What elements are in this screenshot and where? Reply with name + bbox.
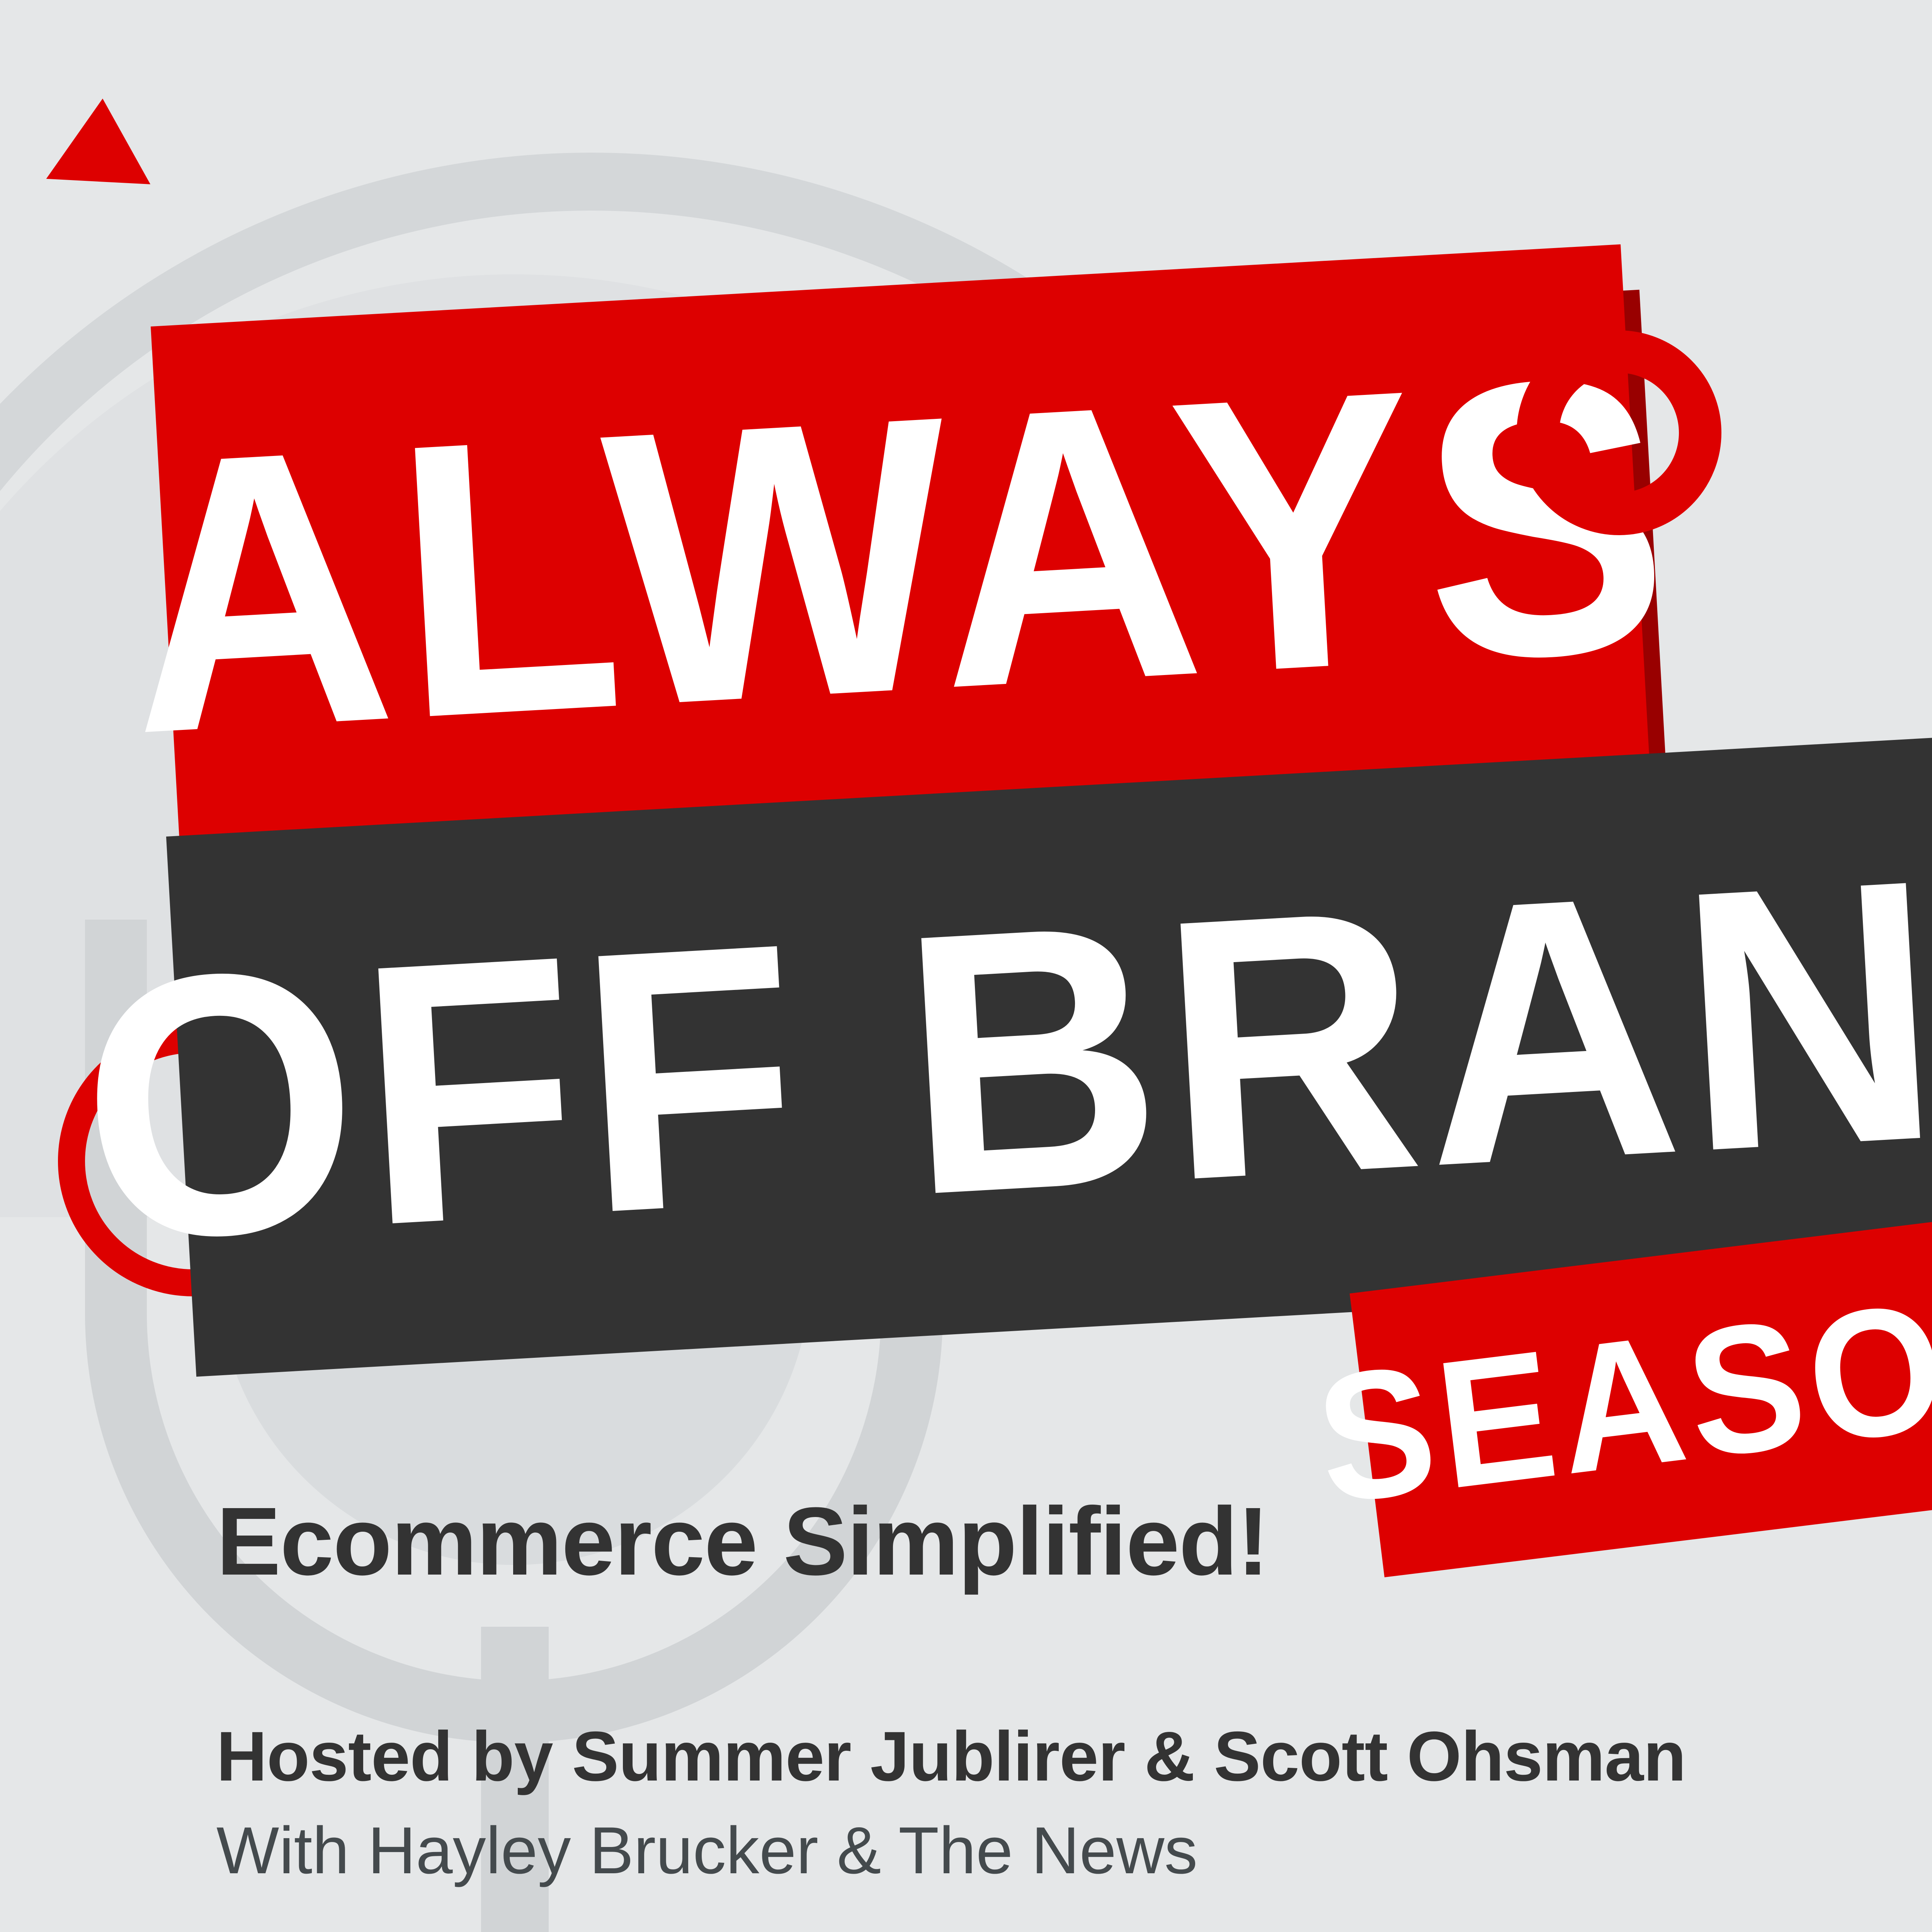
hosts-text: Hosted by Summer Jublirer & Scott Ohsman xyxy=(216,1716,1686,1797)
off-brand-banner-text: OFF BRAND xyxy=(73,808,1932,1297)
cohost-text: With Hayley Brucker & The News xyxy=(216,1812,1197,1889)
sign-eyelet-ring-icon xyxy=(1517,330,1721,535)
podcast-cover-art: ALWAYS OFF BRAND SEASON 4 Ecommerce Simp… xyxy=(0,0,1932,1932)
quickfire-logo: QUICKFIRE PODCAST NETWORK xyxy=(1866,1886,1932,1932)
subtitle-text: Ecommerce Simplified! xyxy=(216,1486,1269,1597)
triangle-decor-icon xyxy=(46,96,155,184)
always-banner-text: ALWAYS xyxy=(117,316,1684,793)
eyelet-outer-ring xyxy=(1517,330,1721,535)
headphones-flame-icon xyxy=(1888,1886,1932,1932)
